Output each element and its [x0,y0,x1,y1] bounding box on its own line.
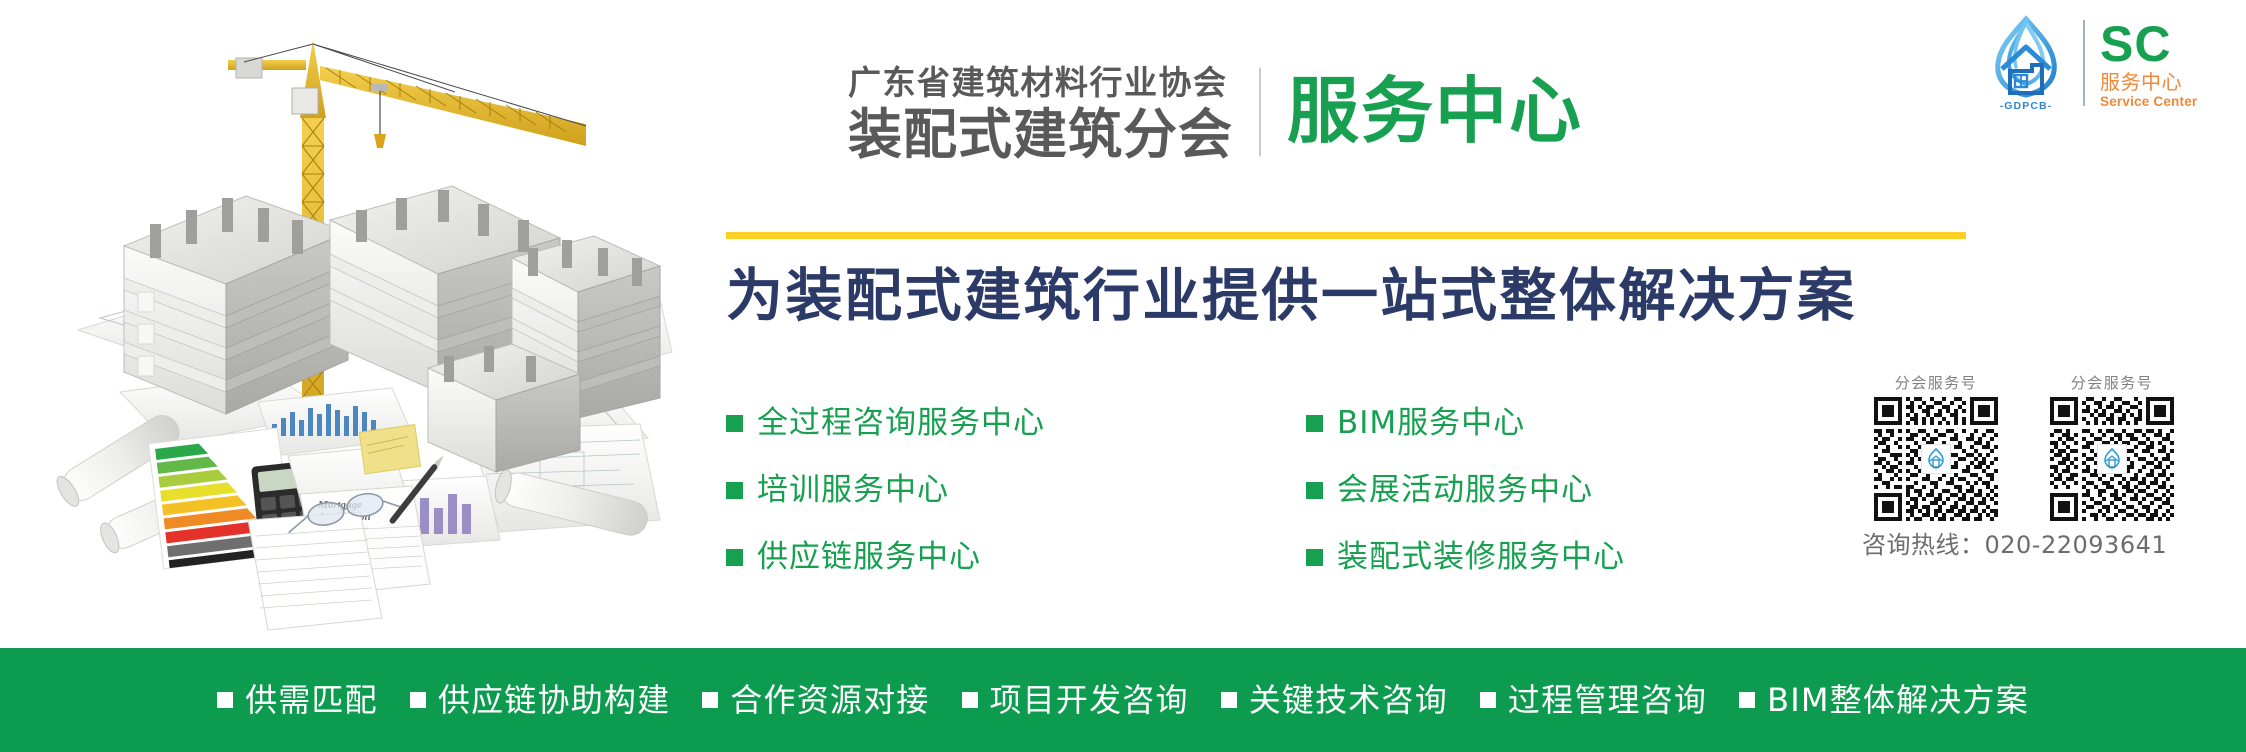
service-center-list: 全过程咨询服务中心 培训服务中心 供应链服务中心 BIM服务中心 会展活动服务中… [726,408,1806,573]
service-item-bim[interactable]: BIM服务中心 [1306,408,1806,439]
bar-item-key-technology-consulting[interactable]: 关键技术咨询 [1221,684,1448,716]
header-block: 广东省建筑材料行业协会 装配式建筑分会 服务中心 [848,62,1583,164]
bar-item-project-development-consulting[interactable]: 项目开发咨询 [962,684,1189,716]
square-bullet-icon [726,482,743,499]
service-item-prefab-decoration[interactable]: 装配式装修服务中心 [1306,542,1806,573]
square-bullet-icon [1739,692,1755,708]
square-bullet-icon [1480,692,1496,708]
yellow-divider-rule [726,232,1966,239]
bar-item-label: BIM整体解决方案 [1767,684,2029,716]
service-item-label: 供应链服务中心 [757,542,981,573]
qr-code-image-2[interactable] [2050,397,2174,521]
sc-lockup: SC 服务中心 Service Center [2100,18,2224,108]
square-bullet-icon [726,415,743,432]
bar-item-label: 合作资源对接 [730,684,929,716]
service-item-label: BIM服务中心 [1337,408,1525,439]
service-item-label: 全过程咨询服务中心 [757,408,1045,439]
qr-caption: 分会服务号 [1862,376,2010,391]
square-bullet-icon [217,692,233,708]
sc-english-label: Service Center [2100,95,2224,109]
square-bullet-icon [1306,482,1323,499]
association-name-line-2: 装配式建筑分会 [848,105,1233,164]
association-name: 广东省建筑材料行业协会 装配式建筑分会 [848,62,1233,164]
bar-item-label: 供应链协助构建 [438,684,670,716]
tagline: 为装配式建筑行业提供一站式整体解决方案 [726,262,1857,330]
service-item-exhibition-events[interactable]: 会展活动服务中心 [1306,475,1806,506]
qr-cell-1: 分会服务号 [1862,376,2010,521]
header-vertical-divider [1259,68,1261,156]
service-item-label: 装配式装修服务中心 [1337,542,1625,573]
bar-item-label: 项目开发咨询 [990,684,1189,716]
service-center-title: 服务中心 [1287,62,1583,156]
bottom-service-bar: 供需匹配 供应链协助构建 合作资源对接 项目开发咨询 关键技术咨询 过程管理咨询… [0,648,2246,752]
bar-item-label: 关键技术咨询 [1249,684,1448,716]
bar-item-bim-total-solution[interactable]: BIM整体解决方案 [1739,684,2029,716]
service-item-full-process-consulting[interactable]: 全过程咨询服务中心 [726,408,1306,439]
gdpcb-wordmark: -GDPCB- [1978,100,2074,112]
sticky-note [359,425,420,474]
qr-center-logo-icon [2097,444,2127,474]
logo-lockup: -GDPCB- SC 服务中心 Service Center [1978,12,2224,114]
hotline-text: 咨询热线：020-22093641 [1862,533,2218,557]
bar-item-supply-chain-assistance[interactable]: 供应链协助构建 [410,684,670,716]
qr-center-logo-icon [1921,444,1951,474]
banner-root: Mortgage Application [0,0,2246,752]
service-list-column-2: BIM服务中心 会展活动服务中心 装配式装修服务中心 [1306,408,1806,573]
construction-hero-illustration: Mortgage Application [0,0,680,648]
qr-caption: 分会服务号 [2038,376,2186,391]
bar-item-process-management-consulting[interactable]: 过程管理咨询 [1480,684,1707,716]
bar-item-label: 供需匹配 [245,684,378,716]
bar-item-label: 过程管理咨询 [1508,684,1707,716]
bar-item-supply-demand-matching[interactable]: 供需匹配 [217,684,378,716]
qr-code-image-1[interactable] [1874,397,1998,521]
square-bullet-icon [1306,549,1323,566]
square-bullet-icon [726,549,743,566]
bar-item-partner-resource-matching[interactable]: 合作资源对接 [702,684,929,716]
association-name-line-1: 广东省建筑材料行业协会 [848,64,1233,103]
qr-cell-2: 分会服务号 [2038,376,2186,521]
sc-letters: SC [2100,21,2224,69]
square-bullet-icon [962,692,978,708]
service-list-column-1: 全过程咨询服务中心 培训服务中心 供应链服务中心 [726,408,1306,573]
service-item-training[interactable]: 培训服务中心 [726,475,1306,506]
service-item-label: 培训服务中心 [757,475,949,506]
qr-code-row: 分会服务号 [1862,376,2218,521]
square-bullet-icon [410,692,426,708]
qr-contact-block: 分会服务号 [1862,376,2218,557]
service-item-supply-chain[interactable]: 供应链服务中心 [726,542,1306,573]
gdpcb-house-flame-icon: -GDPCB- [1978,13,2074,113]
square-bullet-icon [1306,415,1323,432]
square-bullet-icon [702,692,718,708]
service-item-label: 会展活动服务中心 [1337,475,1593,506]
logo-divider [2083,20,2085,106]
square-bullet-icon [1221,692,1237,708]
sc-chinese-label: 服务中心 [2100,72,2224,92]
